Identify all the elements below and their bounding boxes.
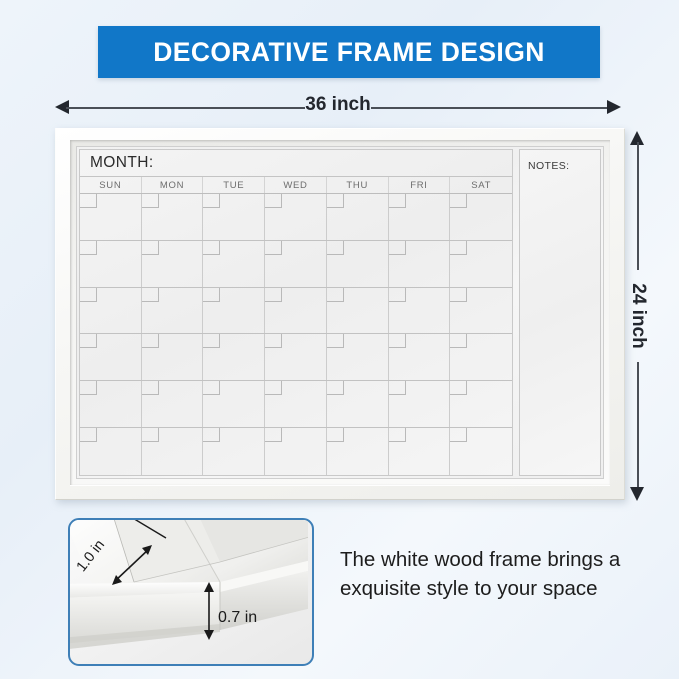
date-number-box bbox=[327, 241, 344, 255]
notes-panel: NOTES: bbox=[519, 149, 601, 476]
date-number-box bbox=[80, 241, 97, 255]
date-number-box bbox=[327, 381, 344, 395]
calendar-day-cell bbox=[142, 194, 204, 240]
date-number-box bbox=[142, 381, 159, 395]
month-header-row: MONTH: bbox=[80, 150, 512, 177]
calendar-day-cell bbox=[265, 194, 327, 240]
weekday-header-row: SUN MON TUE WED THU FRI SAT bbox=[80, 177, 512, 194]
date-number-box bbox=[265, 428, 282, 442]
date-number-box bbox=[265, 241, 282, 255]
calendar-day-cell bbox=[327, 381, 389, 427]
calendar-day-cell bbox=[450, 241, 512, 287]
calendar-day-cell bbox=[80, 241, 142, 287]
calendar-day-cell bbox=[142, 381, 204, 427]
product-caption: The white wood frame brings a exquisite … bbox=[340, 545, 650, 603]
month-label: MONTH: bbox=[90, 154, 154, 172]
weekday-sat: SAT bbox=[450, 177, 512, 193]
date-number-box bbox=[389, 241, 406, 255]
calendar-day-cell bbox=[265, 288, 327, 334]
calendar-week-row bbox=[80, 288, 512, 335]
calendar-day-cell bbox=[203, 334, 265, 380]
date-number-box bbox=[265, 288, 282, 302]
calendar-day-cell bbox=[203, 381, 265, 427]
calendar-week-row bbox=[80, 334, 512, 381]
calendar-day-cell bbox=[389, 194, 451, 240]
date-number-box bbox=[142, 194, 159, 208]
calendar-day-cell bbox=[327, 334, 389, 380]
weekday-mon: MON bbox=[142, 177, 204, 193]
calendar-day-cell bbox=[450, 288, 512, 334]
date-number-box bbox=[450, 428, 467, 442]
date-number-box bbox=[142, 334, 159, 348]
date-number-box bbox=[327, 194, 344, 208]
date-number-box bbox=[203, 194, 220, 208]
date-number-box bbox=[142, 428, 159, 442]
date-number-box bbox=[389, 288, 406, 302]
calendar-day-cell bbox=[327, 194, 389, 240]
height-dimension-label: 24 inch bbox=[627, 283, 649, 348]
date-number-box bbox=[203, 381, 220, 395]
calendar-day-cell bbox=[389, 241, 451, 287]
calendar-day-cell bbox=[142, 428, 204, 475]
dimension-line-top bbox=[637, 142, 639, 270]
width-dimension-label: 36 inch bbox=[55, 94, 621, 116]
calendar-day-cell bbox=[389, 428, 451, 475]
notes-label: NOTES: bbox=[528, 160, 570, 172]
date-number-box bbox=[327, 428, 344, 442]
calendar-day-cell bbox=[450, 194, 512, 240]
date-number-box bbox=[203, 288, 220, 302]
calendar-day-cell bbox=[203, 241, 265, 287]
calendar-day-cell bbox=[203, 194, 265, 240]
calendar-day-cell bbox=[389, 288, 451, 334]
calendar-day-cell bbox=[327, 241, 389, 287]
weekday-sun: SUN bbox=[80, 177, 142, 193]
calendar-day-cell bbox=[80, 381, 142, 427]
date-number-box bbox=[450, 334, 467, 348]
dimension-line-bottom bbox=[637, 362, 639, 490]
whiteboard-product-image: MONTH: SUN MON TUE WED THU FRI SAT NOTES… bbox=[55, 128, 625, 500]
date-number-box bbox=[80, 428, 97, 442]
date-number-box bbox=[80, 381, 97, 395]
height-dimension-arrow: 24 inch bbox=[626, 131, 650, 501]
weekday-wed: WED bbox=[265, 177, 327, 193]
calendar-day-cell bbox=[203, 288, 265, 334]
banner-title: DECORATIVE FRAME DESIGN bbox=[153, 37, 545, 68]
date-number-box bbox=[203, 241, 220, 255]
width-dimension-value: 36 inch bbox=[298, 94, 377, 115]
width-dimension-arrow: 36 inch bbox=[55, 97, 621, 119]
date-number-box bbox=[80, 194, 97, 208]
calendar-day-cell bbox=[265, 241, 327, 287]
calendar-day-cell bbox=[142, 334, 204, 380]
date-number-box bbox=[389, 194, 406, 208]
date-number-box bbox=[327, 288, 344, 302]
frame-thickness-label: 0.7 in bbox=[218, 609, 257, 627]
frame-detail-inset: 1.0 in 0.7 in bbox=[68, 518, 314, 666]
calendar-week-row bbox=[80, 241, 512, 288]
date-number-box bbox=[80, 288, 97, 302]
calendar-day-cell bbox=[327, 428, 389, 475]
date-number-box bbox=[142, 288, 159, 302]
date-number-box bbox=[450, 194, 467, 208]
frame-corner-illustration bbox=[70, 520, 308, 660]
calendar-day-cell bbox=[265, 334, 327, 380]
calendar-panel: MONTH: SUN MON TUE WED THU FRI SAT bbox=[79, 149, 513, 476]
calendar-day-cell bbox=[142, 241, 204, 287]
date-number-box bbox=[265, 334, 282, 348]
calendar-day-cell bbox=[389, 381, 451, 427]
weekday-tue: TUE bbox=[203, 177, 265, 193]
board-surface: MONTH: SUN MON TUE WED THU FRI SAT NOTES… bbox=[76, 146, 604, 479]
calendar-week-row bbox=[80, 381, 512, 428]
header-banner: DECORATIVE FRAME DESIGN bbox=[98, 26, 600, 78]
date-number-box bbox=[389, 334, 406, 348]
calendar-day-cell bbox=[80, 334, 142, 380]
calendar-day-cell bbox=[450, 428, 512, 475]
date-number-box bbox=[450, 381, 467, 395]
calendar-day-cell bbox=[450, 381, 512, 427]
date-number-box bbox=[265, 381, 282, 395]
arrow-head-down-icon bbox=[630, 487, 644, 501]
calendar-grid bbox=[80, 194, 512, 475]
calendar-week-row bbox=[80, 428, 512, 475]
calendar-day-cell bbox=[265, 381, 327, 427]
calendar-day-cell bbox=[389, 334, 451, 380]
date-number-box bbox=[327, 334, 344, 348]
weekday-thu: THU bbox=[327, 177, 389, 193]
calendar-day-cell bbox=[80, 194, 142, 240]
weekday-fri: FRI bbox=[389, 177, 451, 193]
date-number-box bbox=[450, 241, 467, 255]
calendar-day-cell bbox=[450, 334, 512, 380]
date-number-box bbox=[203, 334, 220, 348]
date-number-box bbox=[80, 334, 97, 348]
calendar-day-cell bbox=[142, 288, 204, 334]
calendar-day-cell bbox=[327, 288, 389, 334]
calendar-week-row bbox=[80, 194, 512, 241]
calendar-day-cell bbox=[265, 428, 327, 475]
date-number-box bbox=[203, 428, 220, 442]
calendar-day-cell bbox=[203, 428, 265, 475]
calendar-day-cell bbox=[80, 428, 142, 475]
calendar-day-cell bbox=[80, 288, 142, 334]
date-number-box bbox=[265, 194, 282, 208]
date-number-box bbox=[389, 381, 406, 395]
date-number-box bbox=[450, 288, 467, 302]
date-number-box bbox=[142, 241, 159, 255]
date-number-box bbox=[389, 428, 406, 442]
